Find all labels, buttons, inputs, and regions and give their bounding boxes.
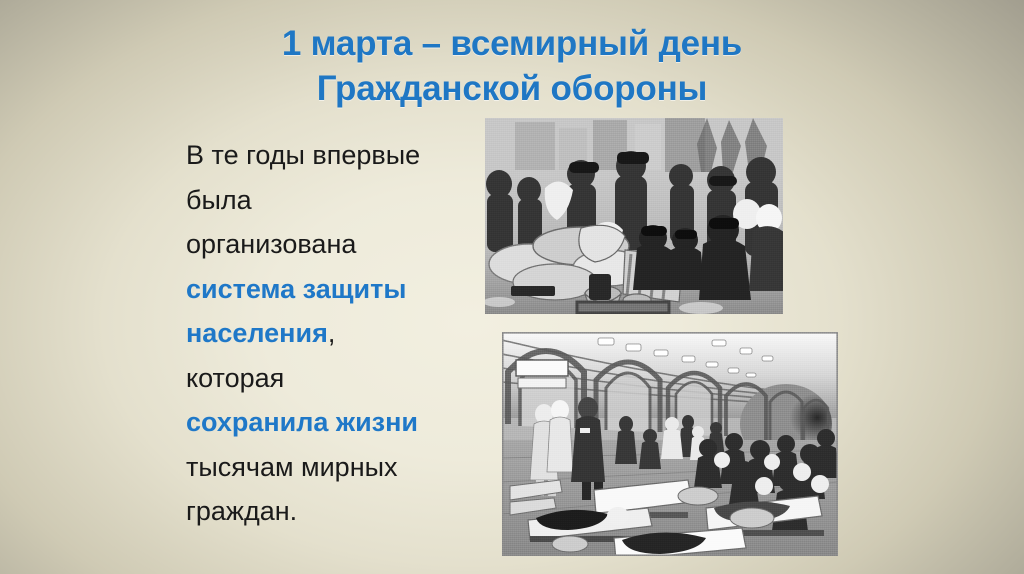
photo-metro-shelter: [502, 332, 838, 556]
body-line-highlight: сохранила жизни: [186, 400, 476, 445]
body-line-highlight-text: населения: [186, 318, 328, 348]
body-line: тысячам мирных: [186, 445, 476, 490]
body-line-highlight: система защиты: [186, 267, 476, 312]
photo-evacuees: [485, 118, 783, 314]
slide-title-line-2: Гражданской обороны: [212, 67, 812, 111]
body-line: которая: [186, 356, 476, 401]
body-line: организована: [186, 222, 476, 267]
slide-title-line-1: 1 марта – всемирный день: [212, 22, 812, 66]
body-line: В те годы впервые: [186, 133, 476, 178]
body-line: граждан.: [186, 489, 476, 534]
body-line-highlight: населения,: [186, 311, 476, 356]
slide-title: 1 марта – всемирный день Гражданской обо…: [212, 22, 812, 111]
presentation-slide: 1 марта – всемирный день Гражданской обо…: [0, 0, 1024, 574]
body-line-comma: ,: [328, 318, 336, 348]
slide-body-text: В те годы впервые была организована сист…: [186, 133, 476, 534]
body-line: была: [186, 178, 476, 223]
